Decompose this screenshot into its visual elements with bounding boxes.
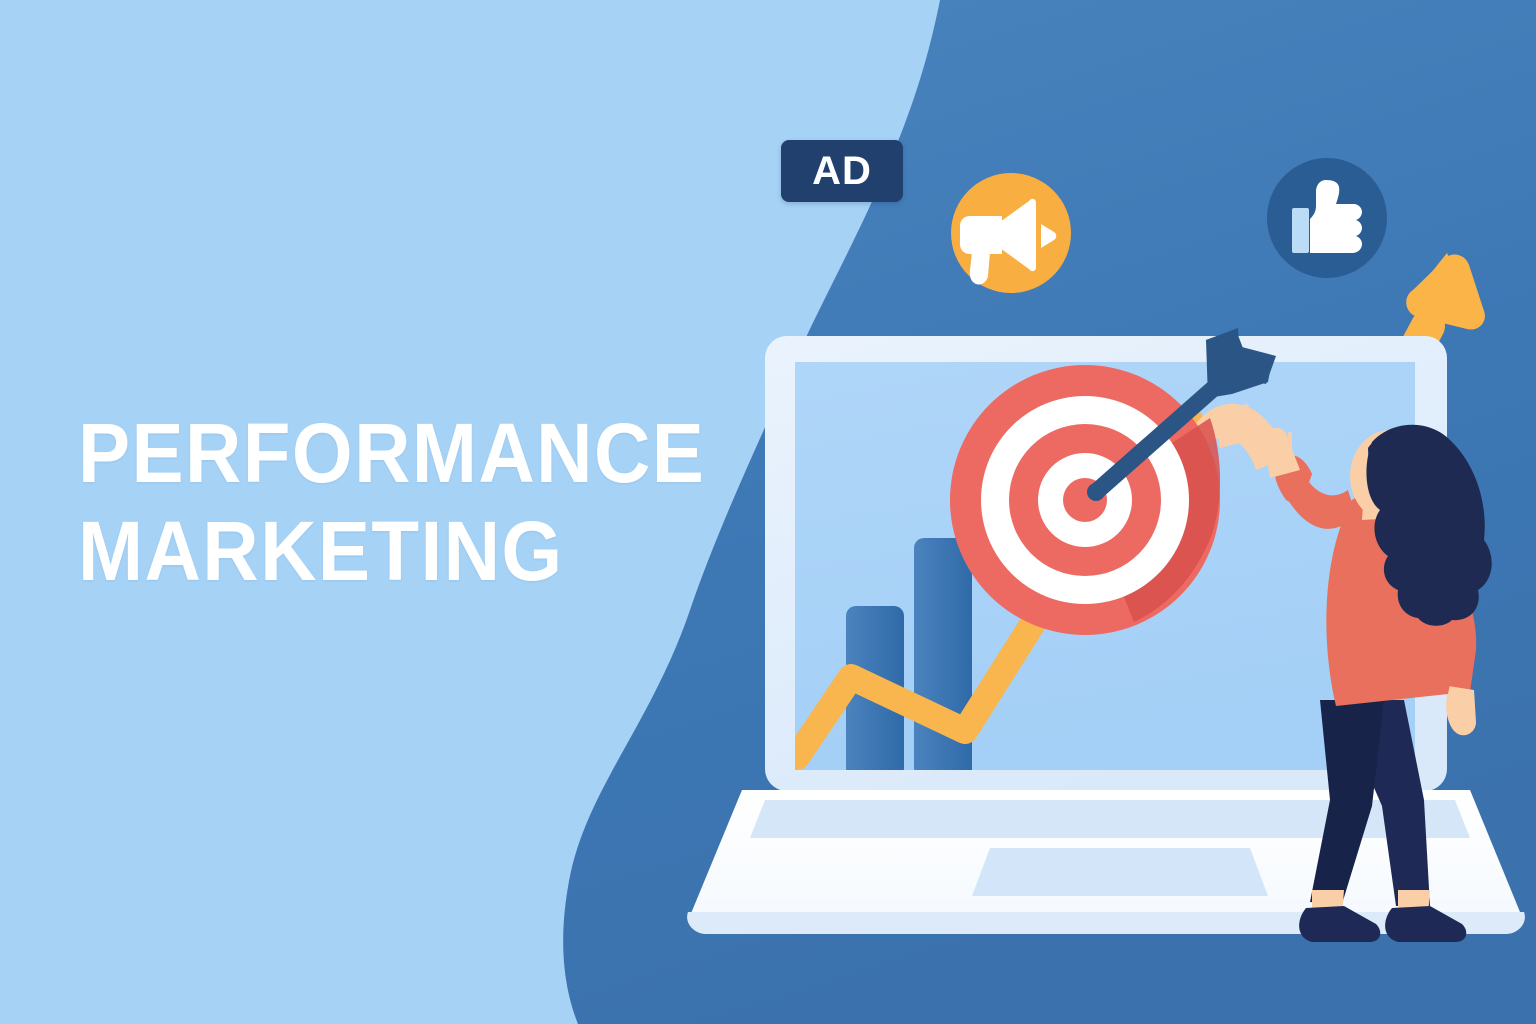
ad-badge-label: AD <box>812 151 872 191</box>
ad-badge: AD <box>781 140 903 202</box>
laptop-trackpad <box>972 848 1268 896</box>
megaphone-icon <box>951 173 1071 293</box>
thumbs-up-cuff <box>1292 208 1309 253</box>
target-icon <box>950 365 1220 635</box>
illustration-banner: PERFORMANCE MARKETING AD <box>0 0 1536 1024</box>
thumbs-up-icon <box>1267 158 1387 278</box>
banner-artwork <box>0 0 1536 1024</box>
